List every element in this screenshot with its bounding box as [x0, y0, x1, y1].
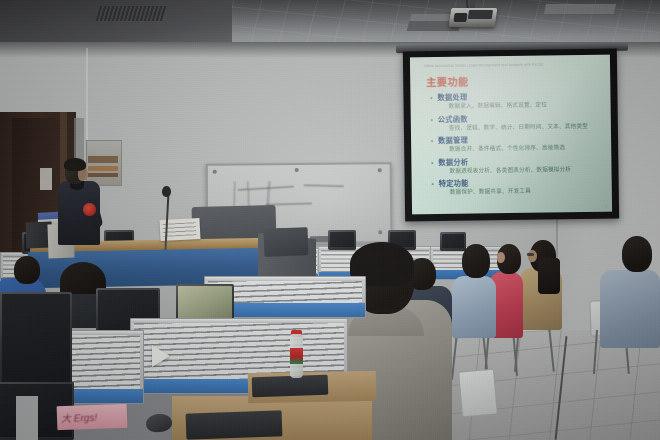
paper-note: [152, 345, 170, 367]
monitor-screen: [2, 294, 70, 393]
attendee-head: [462, 244, 490, 278]
whiteboard-clip: [213, 170, 217, 174]
monitor-screen: [330, 232, 354, 247]
keyboard[interactable]: [186, 410, 283, 439]
monitor: [440, 232, 466, 251]
projector-icon: [449, 8, 498, 27]
slide-title: 主要功能: [426, 74, 469, 90]
slide-section-detail: 查找、逻辑、数学、统计、日期时间、文本、其他类型: [429, 122, 607, 133]
slide-section-2: 公式函数 查找、逻辑、数学、统计、日期时间、文本、其他类型: [429, 112, 607, 133]
attendee-head: [622, 236, 652, 272]
whiteboard-clip: [378, 230, 382, 234]
projector-body: [468, 10, 493, 19]
microphone-icon: [162, 186, 171, 197]
instructor-shirt-logo: [83, 203, 96, 216]
chair: [458, 369, 498, 418]
monitor: [328, 230, 356, 250]
divider-rail: [131, 319, 347, 323]
wall-notice-paper: [40, 168, 52, 190]
instructor-hair: [64, 158, 86, 171]
ceiling-vent: [96, 6, 166, 21]
divider-rail: [205, 277, 365, 281]
attendee-face: [497, 252, 505, 263]
whiteboard-clip: [378, 168, 382, 172]
slide-section-detail: 数据透视表分析、各类图表分析、数据模拟分析: [429, 165, 607, 176]
wall-poster: [86, 140, 122, 186]
slide-section-detail: 数据合并、条件格式、个性化排序、高级筛选: [429, 144, 607, 155]
attendee-head: [14, 256, 40, 284]
slide-section-1: 数据处理 数据录入、数据编辑、格式设置、定位: [428, 91, 606, 112]
monitor-screen: [442, 234, 464, 248]
slide-section-detail: 数据录入、数据编辑、格式设置、定位: [429, 101, 607, 112]
slide-page-number: 5: [605, 205, 607, 209]
wall-poster-band-1: [88, 156, 118, 163]
slide-body: 数据处理 数据录入、数据编辑、格式设置、定位 公式函数 查找、逻辑、数学、统计、…: [428, 91, 607, 201]
classroom-photo: Office Automation Series | Data Manageme…: [0, 0, 660, 440]
keyboard[interactable]: [252, 375, 329, 398]
slide-section-3: 数据管理 数据合并、条件格式、个性化排序、高级筛选: [429, 134, 607, 155]
attendee-torso: [452, 276, 496, 338]
desk-name-card-text: 大 Ergs!: [61, 409, 98, 425]
mouse[interactable]: [145, 413, 173, 434]
glasses-icon: [527, 253, 534, 256]
attendee-face: [528, 250, 537, 262]
monitor-stand: [16, 396, 38, 440]
whiteboard-clip: [295, 168, 299, 172]
projector-lens: [453, 13, 467, 22]
projection-screen: Office Automation Series | Data Manageme…: [403, 49, 619, 222]
wall-poster-band-3: [88, 173, 118, 177]
attendee-torso: [600, 270, 660, 348]
slide-header: Office Automation Series | Data Manageme…: [424, 63, 544, 69]
slide-section-detail: 数据保护、数据共享、开发工具: [430, 187, 608, 198]
desk-name-card: 大 Ergs!: [57, 404, 128, 430]
podium-monitor: [264, 227, 309, 257]
monitor: [0, 292, 72, 396]
slide-section-4: 数据分析 数据透视表分析、各类图表分析、数据模拟分析: [429, 155, 607, 176]
attendee-hair: [538, 258, 560, 294]
projection-screen-surface: Office Automation Series | Data Manageme…: [410, 55, 612, 215]
bottle-label: [290, 348, 303, 364]
ceiling-panel-2: [544, 4, 616, 14]
slide-section-5: 特定功能 数据保护、数据共享、开发工具: [430, 177, 608, 198]
wall-poster-band-2: [88, 166, 118, 171]
